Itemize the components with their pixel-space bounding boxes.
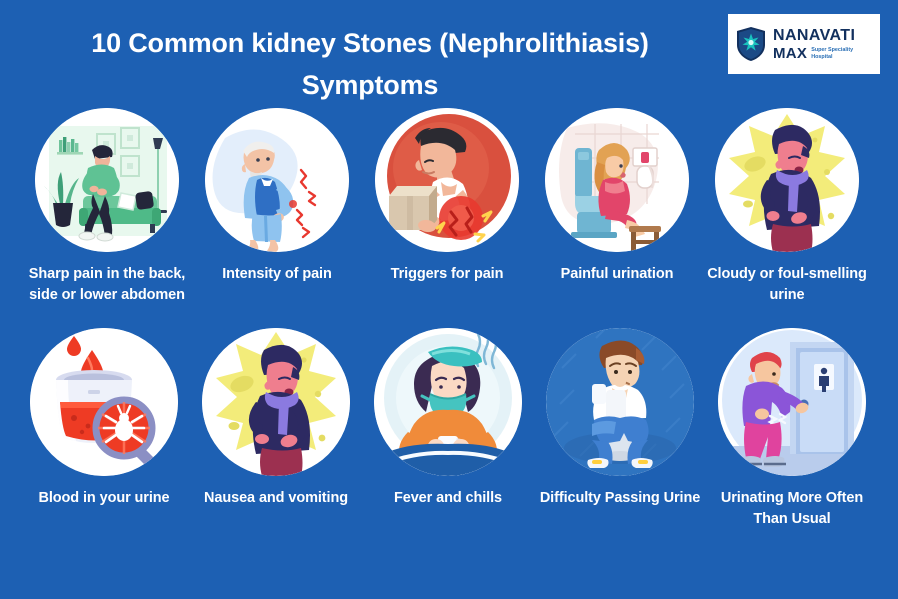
man-rushing-to-restroom-door-illustration — [718, 328, 866, 476]
symptom-label-6: Blood in your urine — [18, 488, 190, 509]
page-title-line2: Symptoms — [20, 64, 720, 106]
symptom-label-10: Urinating More Often Than Usual — [706, 488, 878, 530]
brand-logo: NANAVATI MAX Super Speciality Hospital — [728, 14, 880, 74]
man-sitting-toilet-straining-illustration — [546, 328, 694, 476]
symptom-label-1: Sharp pain in the back, side or lower ab… — [22, 264, 192, 306]
symptom-card-8: Fever and chills — [362, 328, 534, 530]
page-title-line1: 10 Common kidney Stones (Nephrolithiasis… — [91, 28, 648, 58]
man-nausea-yellow-splash-illustration — [202, 328, 350, 476]
symptom-label-9: Difficulty Passing Urine — [534, 488, 706, 509]
symptoms-row-1: Sharp pain in the back, side or lower ab… — [0, 108, 898, 306]
man-lifting-box-back-strain-illustration — [375, 108, 519, 252]
logo-brand-text: NANAVATI — [773, 28, 855, 44]
logo-tagline-line1: Super Speciality — [811, 47, 853, 54]
symptom-label-8: Fever and chills — [362, 488, 534, 509]
header: 10 Common kidney Stones (Nephrolithiasis… — [0, 0, 898, 110]
symptom-card-2: Intensity of pain — [192, 108, 362, 306]
page-title: 10 Common kidney Stones (Nephrolithiasis… — [20, 22, 720, 106]
man-back-pain-living-room-illustration — [35, 108, 179, 252]
symptom-label-3: Triggers for pain — [362, 264, 532, 285]
woman-on-toilet-illustration — [545, 108, 689, 252]
shield-star-icon — [736, 26, 766, 62]
symptom-card-9: Difficulty Passing Urine — [534, 328, 706, 530]
symptom-label-2: Intensity of pain — [192, 264, 362, 285]
logo-tagline-line2: Hospital — [811, 54, 853, 61]
logo-wordmark: NANAVATI MAX Super Speciality Hospital — [773, 28, 855, 61]
urine-sample-cup-blood-magnifier-illustration — [30, 328, 178, 476]
symptom-label-4: Painful urination — [532, 264, 702, 285]
symptom-card-5: Cloudy or foul-smelling urine — [702, 108, 872, 306]
symptom-card-4: Painful urination — [532, 108, 702, 306]
symptom-card-3: Triggers for pain — [362, 108, 532, 306]
symptom-card-6: Blood in your urine — [18, 328, 190, 530]
man-nausea-yellow-splash-illustration — [715, 108, 859, 252]
sick-woman-mask-blanket-illustration — [374, 328, 522, 476]
symptom-card-7: Nausea and vomiting — [190, 328, 362, 530]
infographic-page: 10 Common kidney Stones (Nephrolithiasis… — [0, 0, 898, 599]
symptom-card-10: Urinating More Often Than Usual — [706, 328, 878, 530]
symptom-label-5: Cloudy or foul-smelling urine — [702, 264, 872, 306]
symptoms-row-2: Blood in your urine — [0, 328, 898, 530]
symptom-label-7: Nausea and vomiting — [190, 488, 362, 509]
logo-subbrand-text: MAX — [773, 46, 807, 61]
symptoms-grid: Sharp pain in the back, side or lower ab… — [0, 108, 898, 530]
elderly-man-holding-back-illustration — [205, 108, 349, 252]
symptom-card-1: Sharp pain in the back, side or lower ab… — [22, 108, 192, 306]
